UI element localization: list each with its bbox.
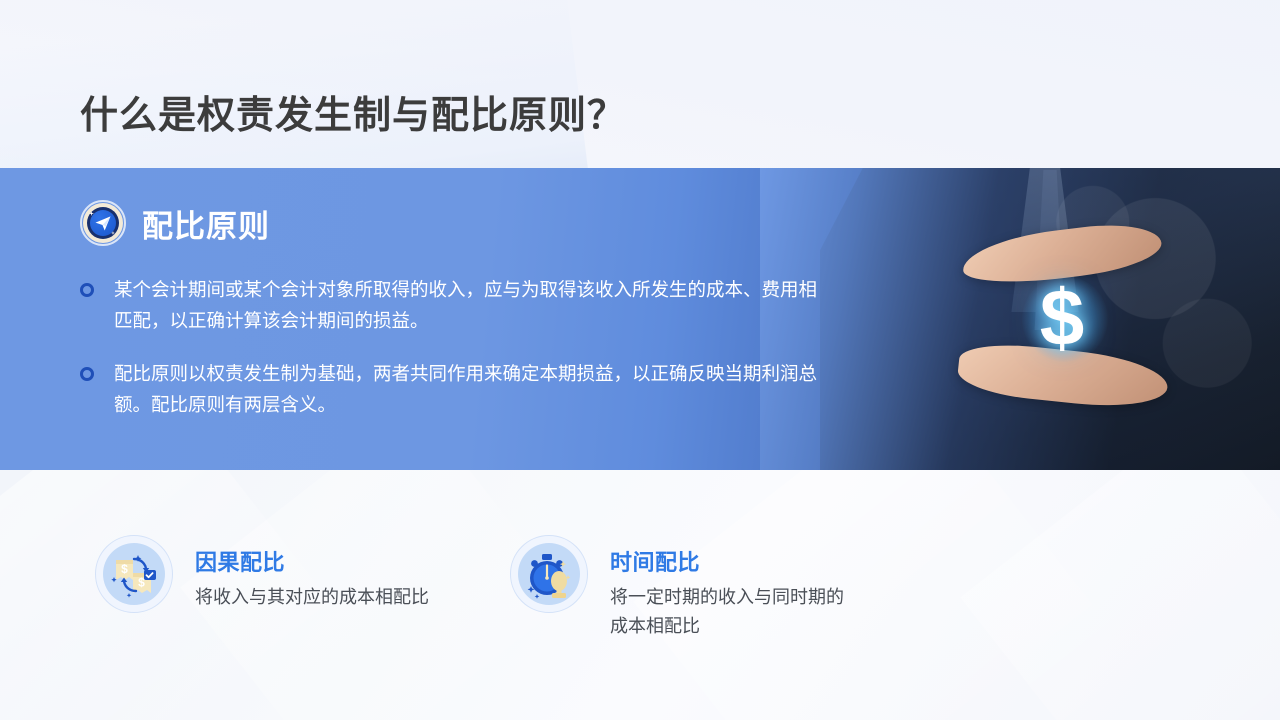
circle-outline-bullet-icon	[80, 283, 94, 297]
feature-card-desc: 将一定时期的收入与同时期的成本相配比	[610, 583, 860, 641]
feature-card-temporal: 时间配比 将一定时期的收入与同时期的成本相配比	[510, 535, 860, 641]
feature-card-body: 时间配比 将一定时期的收入与同时期的成本相配比	[610, 535, 860, 641]
feature-card-title: 因果配比	[195, 545, 429, 577]
slide-root: 什么是权责发生制与配比原则？ $	[0, 0, 1280, 720]
page-title: 什么是权责发生制与配比原则？	[80, 84, 626, 139]
banner-content: 配比原则 某个会计期间或某个会计对象所取得的收入，应与为取得该收入所发生的成本、…	[0, 168, 1280, 420]
feature-card-body: 因果配比 将收入与其对应的成本相配比	[195, 535, 429, 612]
bullet-item: 某个会计期间或某个会计对象所取得的收入，应与为取得该收入所发生的成本、费用相匹配…	[80, 274, 1280, 336]
banner-heading: 配比原则	[142, 201, 270, 246]
stopwatch-trophy-icon	[510, 535, 588, 613]
bullet-item: 配比原则以权责发生制为基础，两者共同作用来确定本期损益，以正确反映当期利润总额。…	[80, 358, 1280, 420]
banner-bullet-list: 某个会计期间或某个会计对象所取得的收入，应与为取得该收入所发生的成本、费用相匹配…	[80, 274, 1280, 420]
bullet-text: 配比原则以权责发生制为基础，两者共同作用来确定本期损益，以正确反映当期利润总额。…	[114, 358, 834, 420]
send-badge-icon	[80, 200, 126, 246]
circle-outline-bullet-icon	[80, 367, 94, 381]
feature-card-desc: 将收入与其对应的成本相配比	[195, 583, 429, 612]
feature-card-title: 时间配比	[610, 545, 860, 577]
svg-text:$: $	[121, 562, 128, 576]
feature-card-causal: $ $	[95, 535, 429, 613]
money-exchange-icon: $ $	[95, 535, 173, 613]
bullet-text: 某个会计期间或某个会计对象所取得的收入，应与为取得该收入所发生的成本、费用相匹配…	[114, 274, 834, 336]
highlight-banner: $ 配比原则	[0, 168, 1280, 470]
banner-heading-row: 配比原则	[80, 200, 1280, 246]
